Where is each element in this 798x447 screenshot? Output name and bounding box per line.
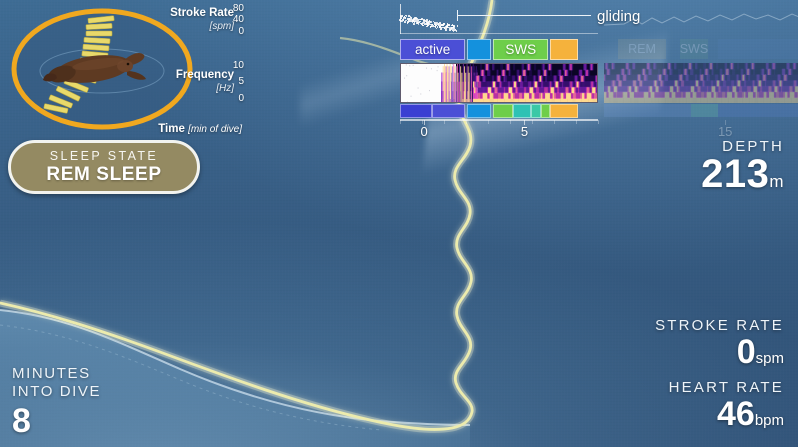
- hypnogram-segment-SWS[interactable]: SWS: [493, 39, 548, 60]
- stroke-rate-scatter-plot: gliding: [400, 4, 598, 34]
- minutes-value: 8: [12, 403, 101, 439]
- hypnogram-segment-unlabeled-3[interactable]: [550, 39, 578, 60]
- time-minor-tick: [400, 120, 401, 124]
- time-tick-label-5: 5: [521, 124, 528, 139]
- stroke-rate-baseline: [400, 33, 598, 34]
- minutes-caption-line2: INTO DIVE: [12, 383, 101, 401]
- time-minor-tick: [554, 120, 555, 124]
- stroke-rate-tick-80: 80: [224, 3, 244, 14]
- frequency-tick-0: 0: [224, 93, 244, 104]
- heart-rate-value-group: 46bpm: [655, 396, 784, 439]
- stroke-rate-unit: spm: [756, 350, 784, 367]
- time-axis-line: [400, 119, 598, 121]
- gliding-span-line: [457, 15, 591, 16]
- depth-value: 213: [701, 152, 769, 196]
- time-minor-tick: [488, 120, 489, 124]
- stroke-rate-point: [402, 21, 404, 23]
- stroke-rate-value-group: 0spm: [655, 334, 784, 377]
- sleep-state-value: REM SLEEP: [46, 164, 161, 185]
- hypnogram-detail-segment: [550, 104, 578, 118]
- stroke-rate-point: [453, 27, 455, 29]
- future-state-active: active: [718, 39, 798, 59]
- gliding-annotation: gliding: [597, 8, 640, 25]
- stroke-rate-axis-unit: [spm]: [152, 20, 234, 33]
- heart-rate-unit: bpm: [755, 412, 784, 429]
- eeg-spectrogram: [400, 63, 598, 103]
- frequency-tick-5: 5: [224, 76, 244, 87]
- stroke-rate-point: [419, 21, 421, 23]
- dive-visualization-scene: SLEEP STATE REM SLEEP Stroke Rate [spm] …: [0, 0, 798, 447]
- future-hypnogram-detail: [604, 104, 798, 117]
- future-hypnogram-segment: [604, 104, 691, 117]
- frequency-axis-unit: [Hz]: [152, 82, 234, 95]
- stroke-rate-point: [404, 21, 406, 23]
- time-minor-tick: [422, 120, 423, 124]
- stroke-rate-point: [406, 16, 408, 18]
- stroke-rate-point: [456, 30, 458, 32]
- depth-readout: DEPTH 213m: [701, 138, 784, 203]
- depth-unit: m: [769, 172, 784, 191]
- depth-value-group: 213m: [701, 153, 784, 203]
- frequency-tick-10: 10: [224, 60, 244, 71]
- heart-rate-value: 46: [717, 395, 755, 433]
- time-minor-tick: [532, 120, 533, 124]
- stroke-rate-caption: STROKE RATE: [655, 317, 784, 334]
- vitals-readout: STROKE RATE 0spm HEART RATE 46bpm: [655, 317, 784, 439]
- hypnogram-detail-segment: [493, 104, 513, 118]
- stroke-rate-point: [399, 19, 401, 21]
- time-minor-tick: [576, 120, 577, 124]
- future-eeg-spectrogram: [604, 63, 798, 103]
- stroke-rate-axis-label: Stroke Rate [spm]: [152, 7, 234, 33]
- time-minor-tick: [598, 120, 599, 124]
- sleep-state-hypnogram-detail: [400, 104, 598, 118]
- frequency-axis-label: Frequency [Hz]: [152, 69, 234, 95]
- sleep-state-badge: SLEEP STATE REM SLEEP: [8, 140, 200, 194]
- time-tick-label-0: 0: [420, 124, 427, 139]
- stroke-rate-point: [422, 25, 424, 27]
- hypnogram-segment-active[interactable]: active: [400, 39, 465, 60]
- stroke-rate-point: [453, 31, 455, 33]
- sleep-state-caption: SLEEP STATE: [50, 149, 158, 163]
- hypnogram-detail-segment: [467, 104, 491, 118]
- stroke-rate-tick-40: 40: [224, 14, 244, 25]
- stroke-rate-point: [449, 30, 451, 32]
- future-state-REM: REM: [618, 39, 666, 59]
- future-hypnogram-segment: [691, 104, 719, 117]
- hypnogram-detail-segment: [531, 104, 541, 118]
- time-tick-label-15: 15: [718, 124, 732, 139]
- stroke-rate-point: [424, 23, 426, 25]
- time-minor-tick: [444, 120, 445, 124]
- stroke-rate-point: [457, 25, 459, 27]
- future-state-SWS: SWS: [680, 39, 708, 59]
- time-minor-tick: [510, 120, 511, 124]
- time-axis-unit: [min of dive]: [188, 124, 242, 135]
- stroke-rate-point: [413, 23, 415, 25]
- stroke-rate-point: [440, 28, 442, 30]
- stroke-rate-point: [408, 20, 410, 22]
- stroke-rate-value: 0: [737, 333, 756, 371]
- minutes-caption-line1: MINUTES: [12, 365, 101, 383]
- time-minor-tick: [466, 120, 467, 124]
- heart-rate-caption: HEART RATE: [655, 379, 784, 396]
- sleep-state-hypnogram: activeSWS: [400, 39, 598, 60]
- hypnogram-detail-segment: [513, 104, 531, 118]
- physiology-chart-panel: Stroke Rate [spm] 80 40 0 Frequency [Hz]…: [152, 0, 798, 146]
- hypnogram-detail-segment: [400, 104, 432, 118]
- stroke-rate-point: [418, 24, 420, 26]
- minutes-into-dive-readout: MINUTES INTO DIVE 8: [12, 365, 101, 439]
- hypnogram-detail-segment: [432, 104, 466, 118]
- stroke-rate-point: [445, 29, 447, 31]
- time-axis-label: Time [min of dive]: [152, 123, 242, 136]
- future-hypnogram-segment: [718, 104, 798, 117]
- stroke-rate-point: [429, 20, 431, 22]
- hypnogram-detail-segment: [541, 104, 551, 118]
- hypnogram-segment-unlabeled-1[interactable]: [467, 39, 491, 60]
- stroke-rate-tick-0: 0: [224, 26, 244, 37]
